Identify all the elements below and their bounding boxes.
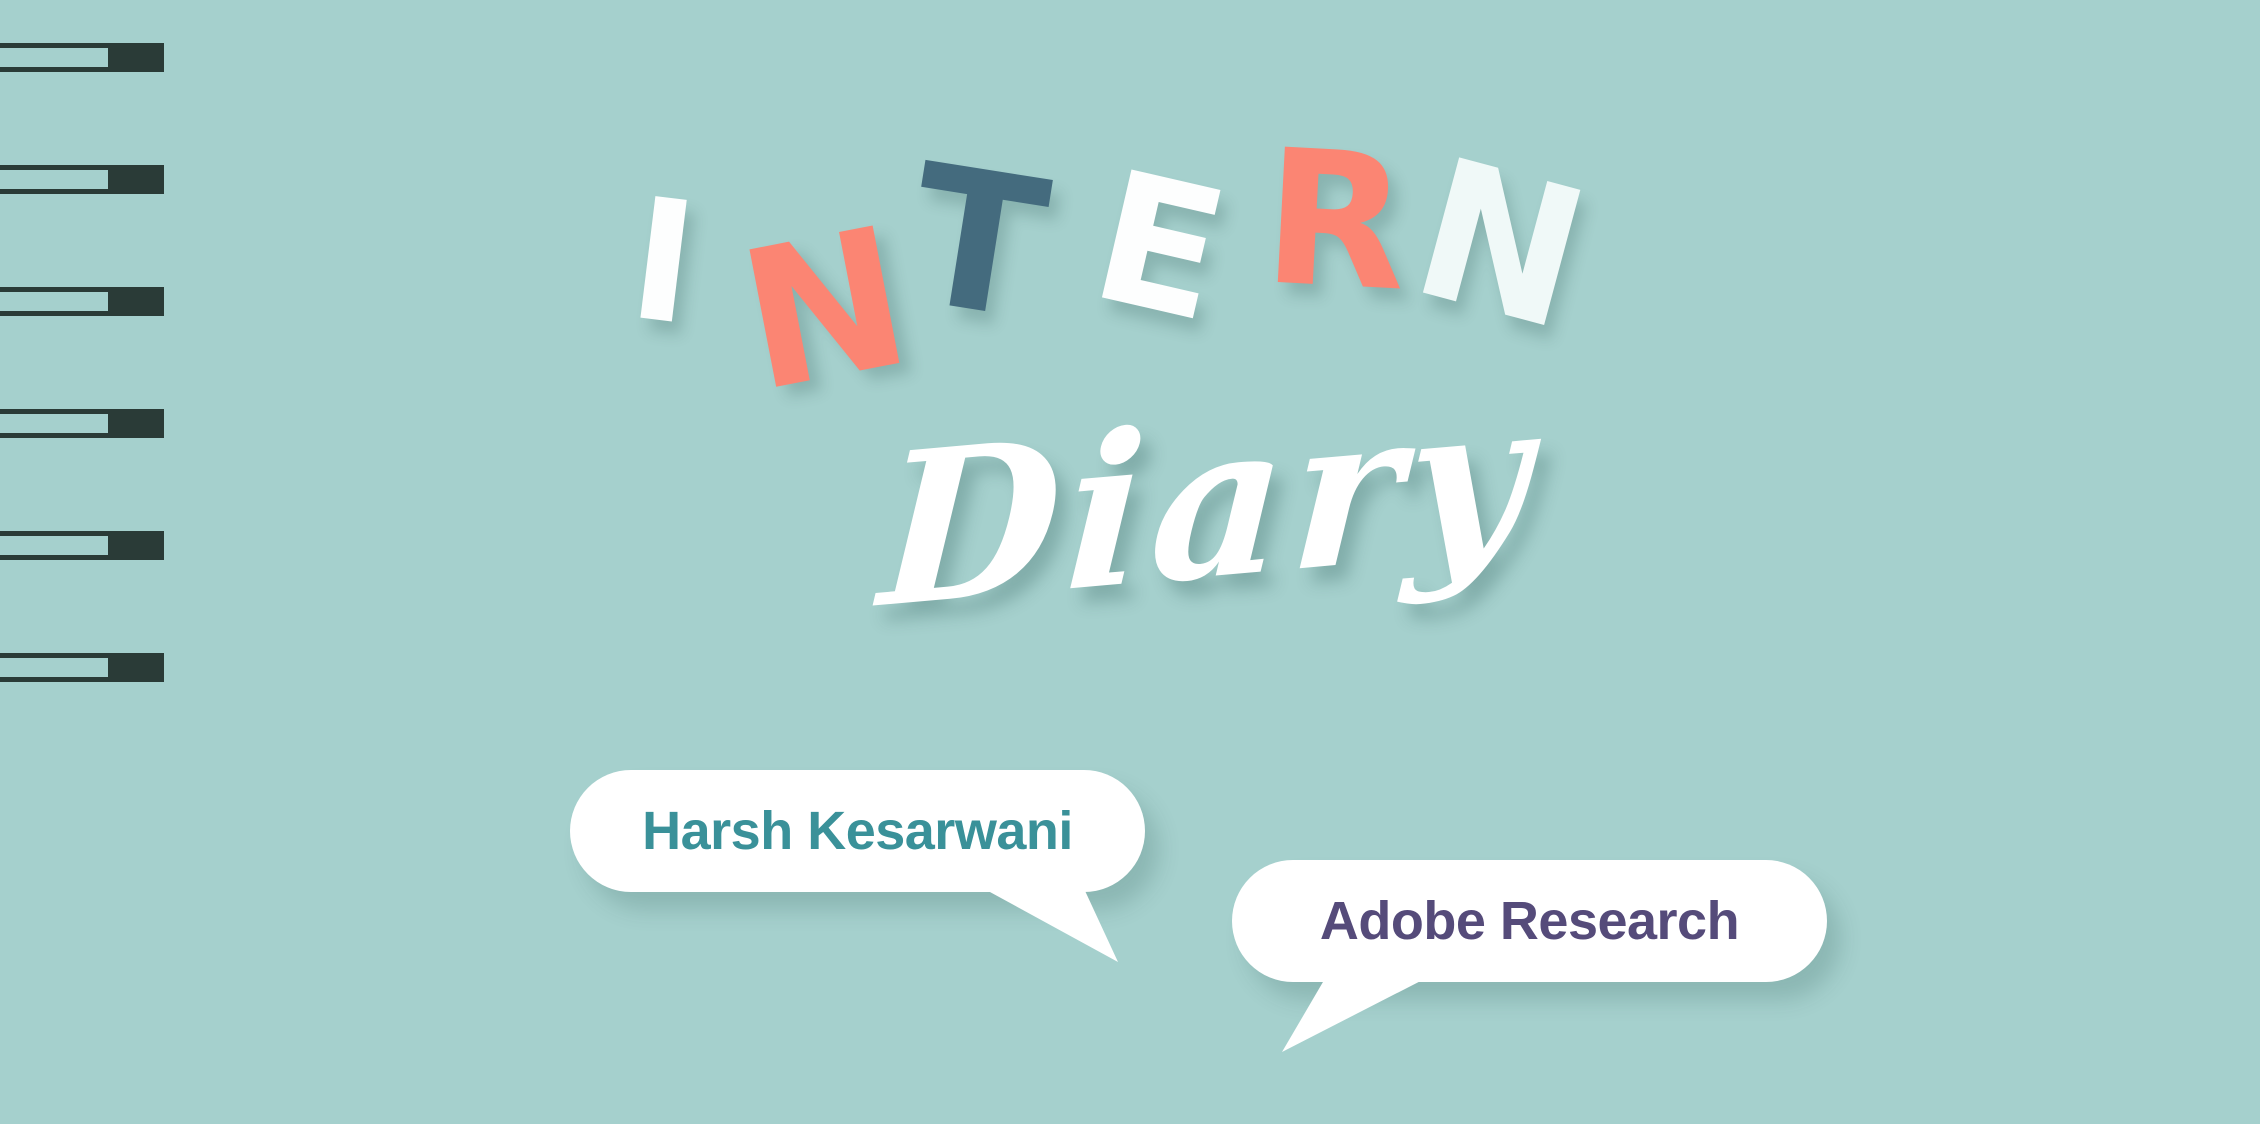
- slide-canvas: I N T E R N Diary Harsh Kesarwani Adobe …: [0, 0, 2260, 1124]
- speech-bubble-name-tail: [968, 880, 1118, 962]
- speech-bubble-name-label: Harsh Kesarwani: [642, 800, 1073, 862]
- speech-bubble-name[interactable]: Harsh Kesarwani: [570, 770, 1145, 892]
- title-diary: Diary: [876, 371, 1539, 638]
- binder-ring: [0, 43, 164, 72]
- binder-ring-hole: [0, 658, 108, 677]
- title-letter-n2: N: [1398, 132, 1603, 359]
- title-letter-r: R: [1259, 124, 1412, 317]
- binder-ring-hole: [0, 48, 108, 67]
- binder-ring: [0, 653, 164, 682]
- title-letter-t: T: [898, 139, 1057, 349]
- title-letter-i: I: [622, 175, 705, 349]
- title-letter-n1: N: [728, 201, 922, 420]
- speech-bubble-org-label: Adobe Research: [1320, 890, 1739, 952]
- binder-ring-hole: [0, 536, 108, 555]
- title-letter-e: E: [1079, 146, 1239, 349]
- speech-bubble-org[interactable]: Adobe Research: [1232, 860, 1827, 982]
- binder-ring-hole: [0, 170, 108, 189]
- binder-ring-hole: [0, 414, 108, 433]
- binder-ring: [0, 409, 164, 438]
- binder-ring: [0, 165, 164, 194]
- binder-ring: [0, 287, 164, 316]
- speech-bubble-org-tail: [1282, 970, 1442, 1052]
- binder-ring-hole: [0, 292, 108, 311]
- binder-ring: [0, 531, 164, 560]
